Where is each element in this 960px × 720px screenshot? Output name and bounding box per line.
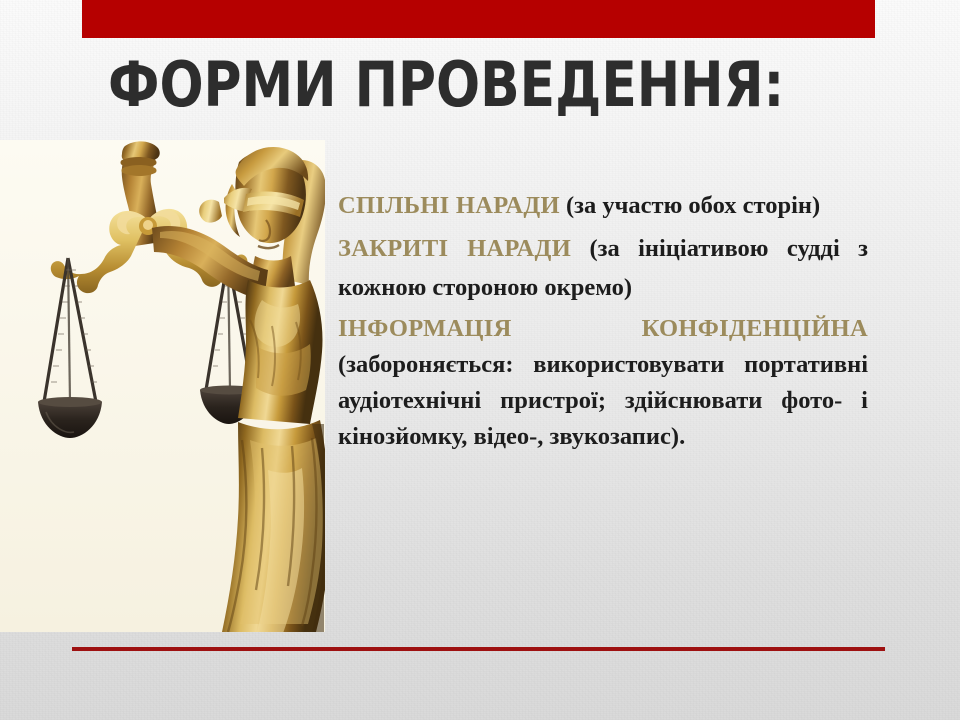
bullet-lead: ЗАКРИТІ НАРАДИ <box>338 235 571 262</box>
bullet-lead: ІНФОРМАЦІЯ КОНФІДЕНЦІЙНА <box>338 315 868 342</box>
list-item: ЗАКРИТІ НАРАДИ (за ініціативою судді з к… <box>338 229 868 307</box>
page-title: ФОРМИ ПРОВЕДЕННЯ: <box>108 52 784 118</box>
bullet-list: СПІЛЬНІ НАРАДИ (за участю обох сторін) З… <box>338 186 868 455</box>
bullet-rest: (за участю обох сторін) <box>560 192 820 219</box>
lady-justice-illustration <box>0 140 325 632</box>
bullet-rest: (забороняється: використовувати портатив… <box>338 351 868 450</box>
bullet-lead: СПІЛЬНІ НАРАДИ <box>338 192 560 219</box>
bottom-red-rule <box>72 647 885 651</box>
slide-canvas: ФОРМИ ПРОВЕДЕННЯ: <box>0 0 960 720</box>
list-item: СПІЛЬНІ НАРАДИ (за участю обох сторін) <box>338 186 868 225</box>
list-item: ІНФОРМАЦІЯ КОНФІДЕНЦІЙНА (забороняється:… <box>338 311 868 455</box>
top-red-banner <box>82 0 875 38</box>
lady-justice-image <box>0 140 325 632</box>
